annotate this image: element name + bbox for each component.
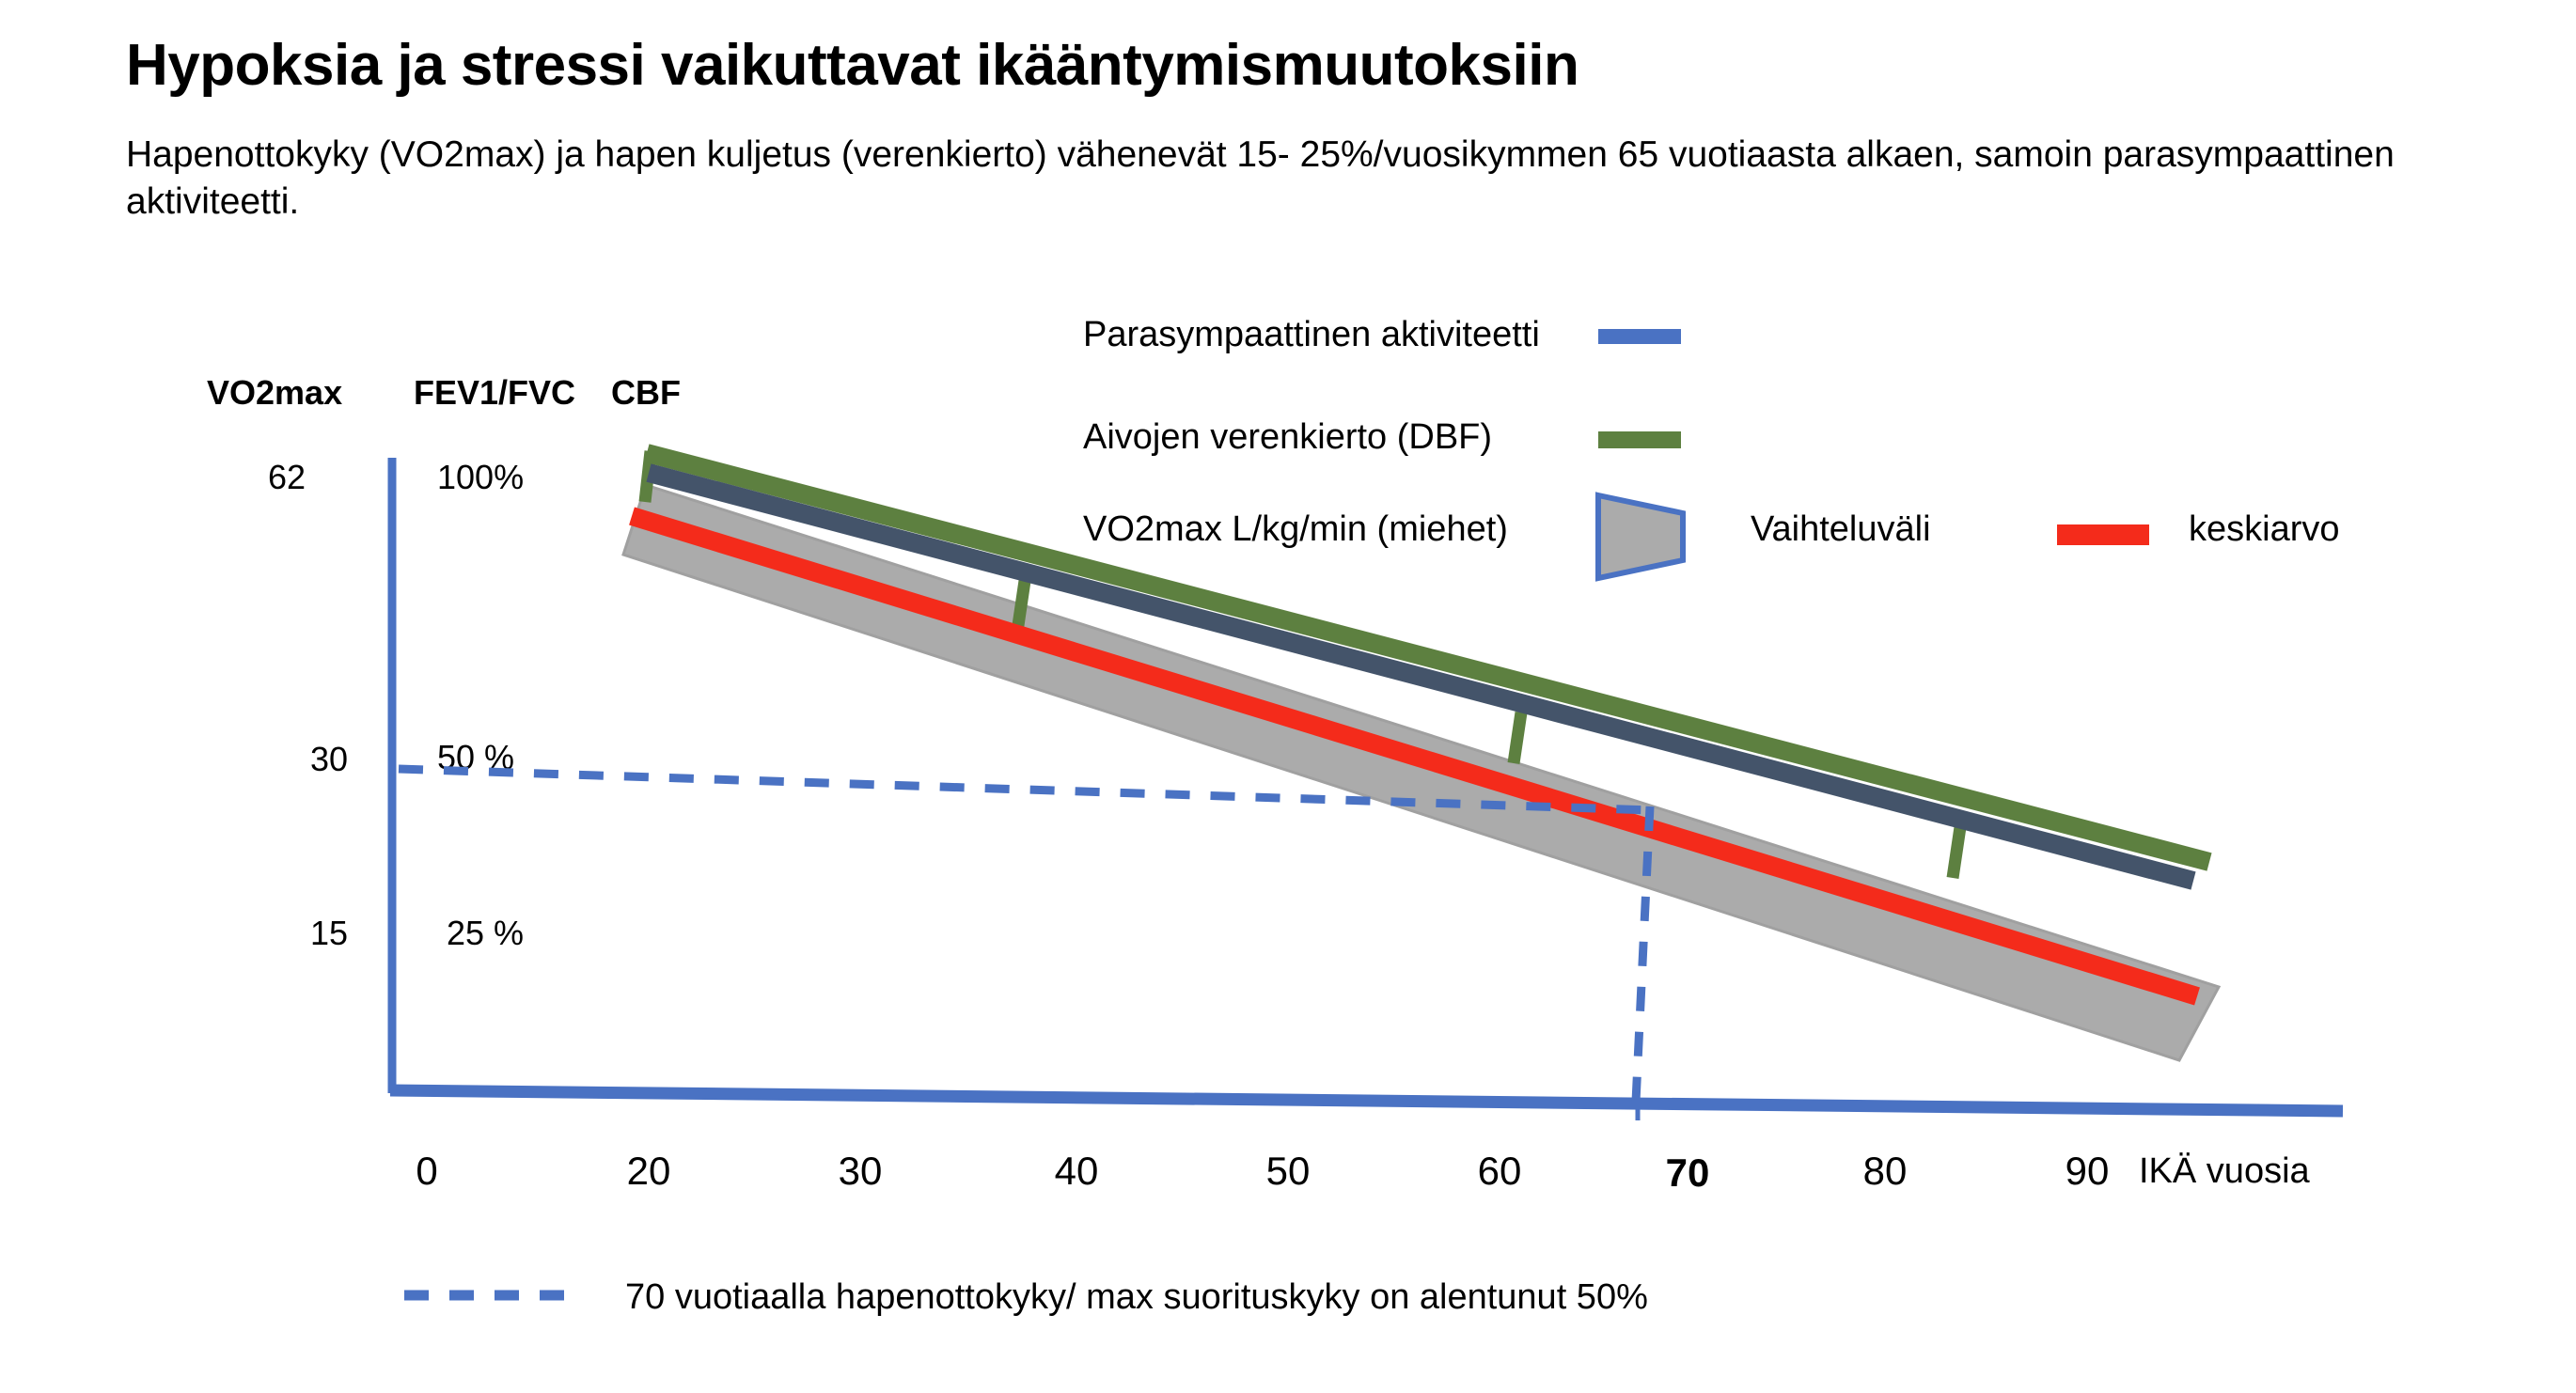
x-tick-70: 70 bbox=[1666, 1150, 1710, 1195]
series-line-mean bbox=[632, 516, 2197, 996]
y-tick-30: 30 bbox=[310, 740, 348, 778]
y-tick-62: 62 bbox=[268, 458, 306, 496]
line-swatch-green-icon bbox=[1598, 431, 1681, 448]
x-tick-0: 0 bbox=[416, 1149, 437, 1193]
x-axis-title: IKÄ vuosia bbox=[2139, 1151, 2311, 1191]
chart-footnote: 70 vuotiaalla hapenottokyky/ max suoritu… bbox=[404, 1277, 1648, 1317]
chart-area: VO2max FEV1/FVC CBF 62 30 15 100% 50 % 2… bbox=[0, 0, 2576, 1393]
x-tick-80: 80 bbox=[1863, 1149, 1908, 1193]
x-tick-20: 20 bbox=[627, 1149, 671, 1193]
y-tick-15: 15 bbox=[310, 914, 348, 952]
trapezoid-swatch-gray-icon bbox=[1598, 495, 1683, 578]
legend-label-vo2max: VO2max L/kg/min (miehet) bbox=[1083, 509, 1508, 549]
x-tick-50: 50 bbox=[1266, 1149, 1311, 1193]
x-tick-90: 90 bbox=[2066, 1149, 2110, 1193]
slide-root: Hypoksia ja stressi vaikuttavat ikääntym… bbox=[0, 0, 2576, 1393]
footnote-text: 70 vuotiaalla hapenottokyky/ max suoritu… bbox=[625, 1277, 1648, 1317]
line-swatch-blue-icon bbox=[1598, 329, 1681, 344]
chart-legend: Parasympaattinen aktiviteetti Aivojen ve… bbox=[1083, 315, 2340, 578]
y-header-cbf: CBF bbox=[611, 373, 681, 412]
legend-label-parasympathetic: Parasympaattinen aktiviteetti bbox=[1083, 315, 1540, 354]
y-tick-25pct: 25 % bbox=[447, 914, 524, 952]
x-tick-30: 30 bbox=[839, 1149, 883, 1193]
y-header-fev1fvc: FEV1/FVC bbox=[414, 373, 575, 412]
legend-label-vaihteluvali: Vaihteluväli bbox=[1751, 509, 1931, 549]
vo2max-range-band bbox=[623, 485, 2219, 1060]
x-tick-40: 40 bbox=[1055, 1149, 1099, 1193]
legend-label-dbf: Aivojen verenkierto (DBF) bbox=[1083, 417, 1492, 457]
x-tick-60: 60 bbox=[1478, 1149, 1522, 1193]
y-header-vo2max: VO2max bbox=[207, 373, 342, 412]
line-swatch-red-icon bbox=[2057, 524, 2149, 545]
y-tick-100pct: 100% bbox=[437, 458, 524, 496]
legend-label-keskiarvo: keskiarvo bbox=[2189, 509, 2340, 549]
